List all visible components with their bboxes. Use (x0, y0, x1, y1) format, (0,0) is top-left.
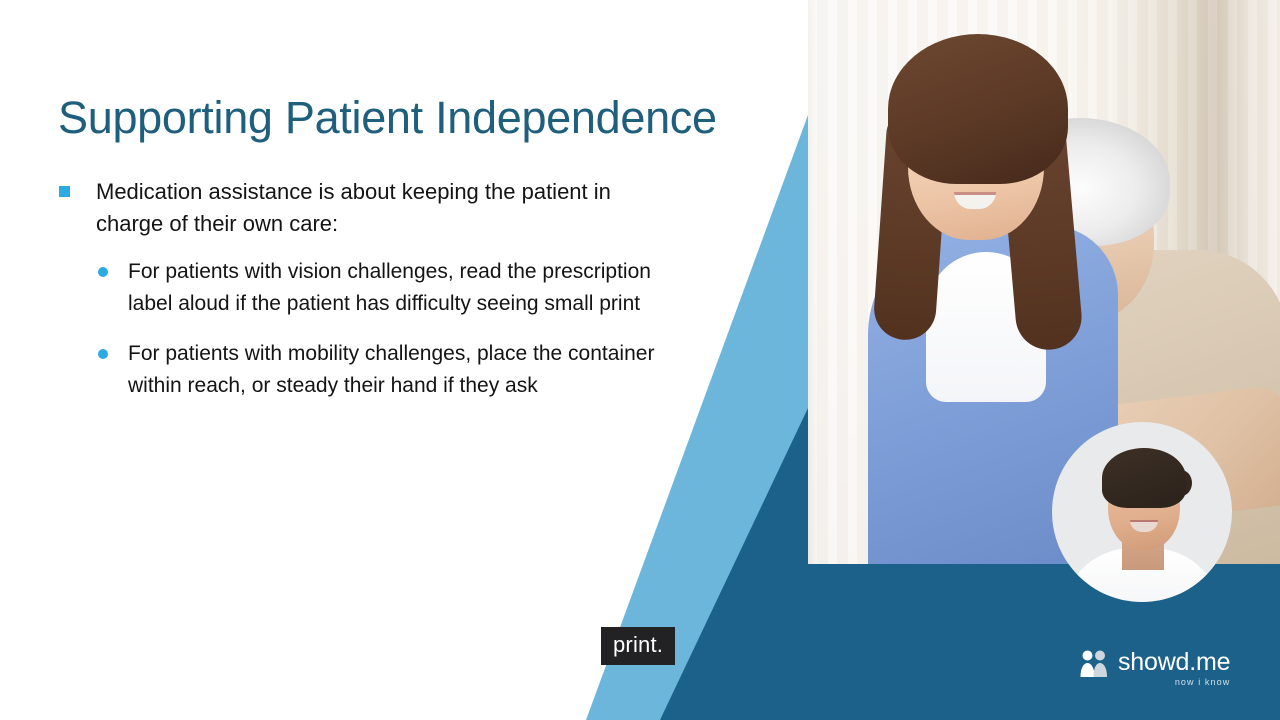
slide-title: Supporting Patient Independence (58, 92, 717, 144)
presenter-avatar (1052, 422, 1232, 602)
slide-canvas: Supporting Patient Independence Medicati… (0, 0, 1280, 720)
caption-box: print. (601, 627, 675, 665)
sub-bullet-vision-text: For patients with vision challenges, rea… (128, 260, 651, 315)
square-bullet-icon (59, 186, 70, 197)
slide-body: Medication assistance is about keeping t… (56, 176, 656, 420)
main-bullet: Medication assistance is about keeping t… (56, 176, 656, 240)
sub-bullet-mobility: For patients with mobility challenges, p… (56, 338, 656, 402)
main-bullet-text: Medication assistance is about keeping t… (96, 179, 611, 236)
dot-bullet-icon (98, 267, 108, 277)
showdme-logo: showd.me now i know (1079, 650, 1230, 687)
sub-bullet-list: For patients with vision challenges, rea… (56, 256, 656, 402)
nurse-hair-top (888, 34, 1068, 184)
sub-bullet-vision: For patients with vision challenges, rea… (56, 256, 656, 320)
logo-tagline: now i know (1118, 677, 1230, 687)
avatar-hair (1102, 448, 1186, 508)
logo-text: showd.me now i know (1118, 650, 1230, 687)
logo-wordmark: showd.me (1118, 650, 1230, 675)
sub-bullet-mobility-text: For patients with mobility challenges, p… (128, 342, 654, 397)
two-people-icon (1079, 650, 1109, 678)
dot-bullet-icon (98, 349, 108, 359)
